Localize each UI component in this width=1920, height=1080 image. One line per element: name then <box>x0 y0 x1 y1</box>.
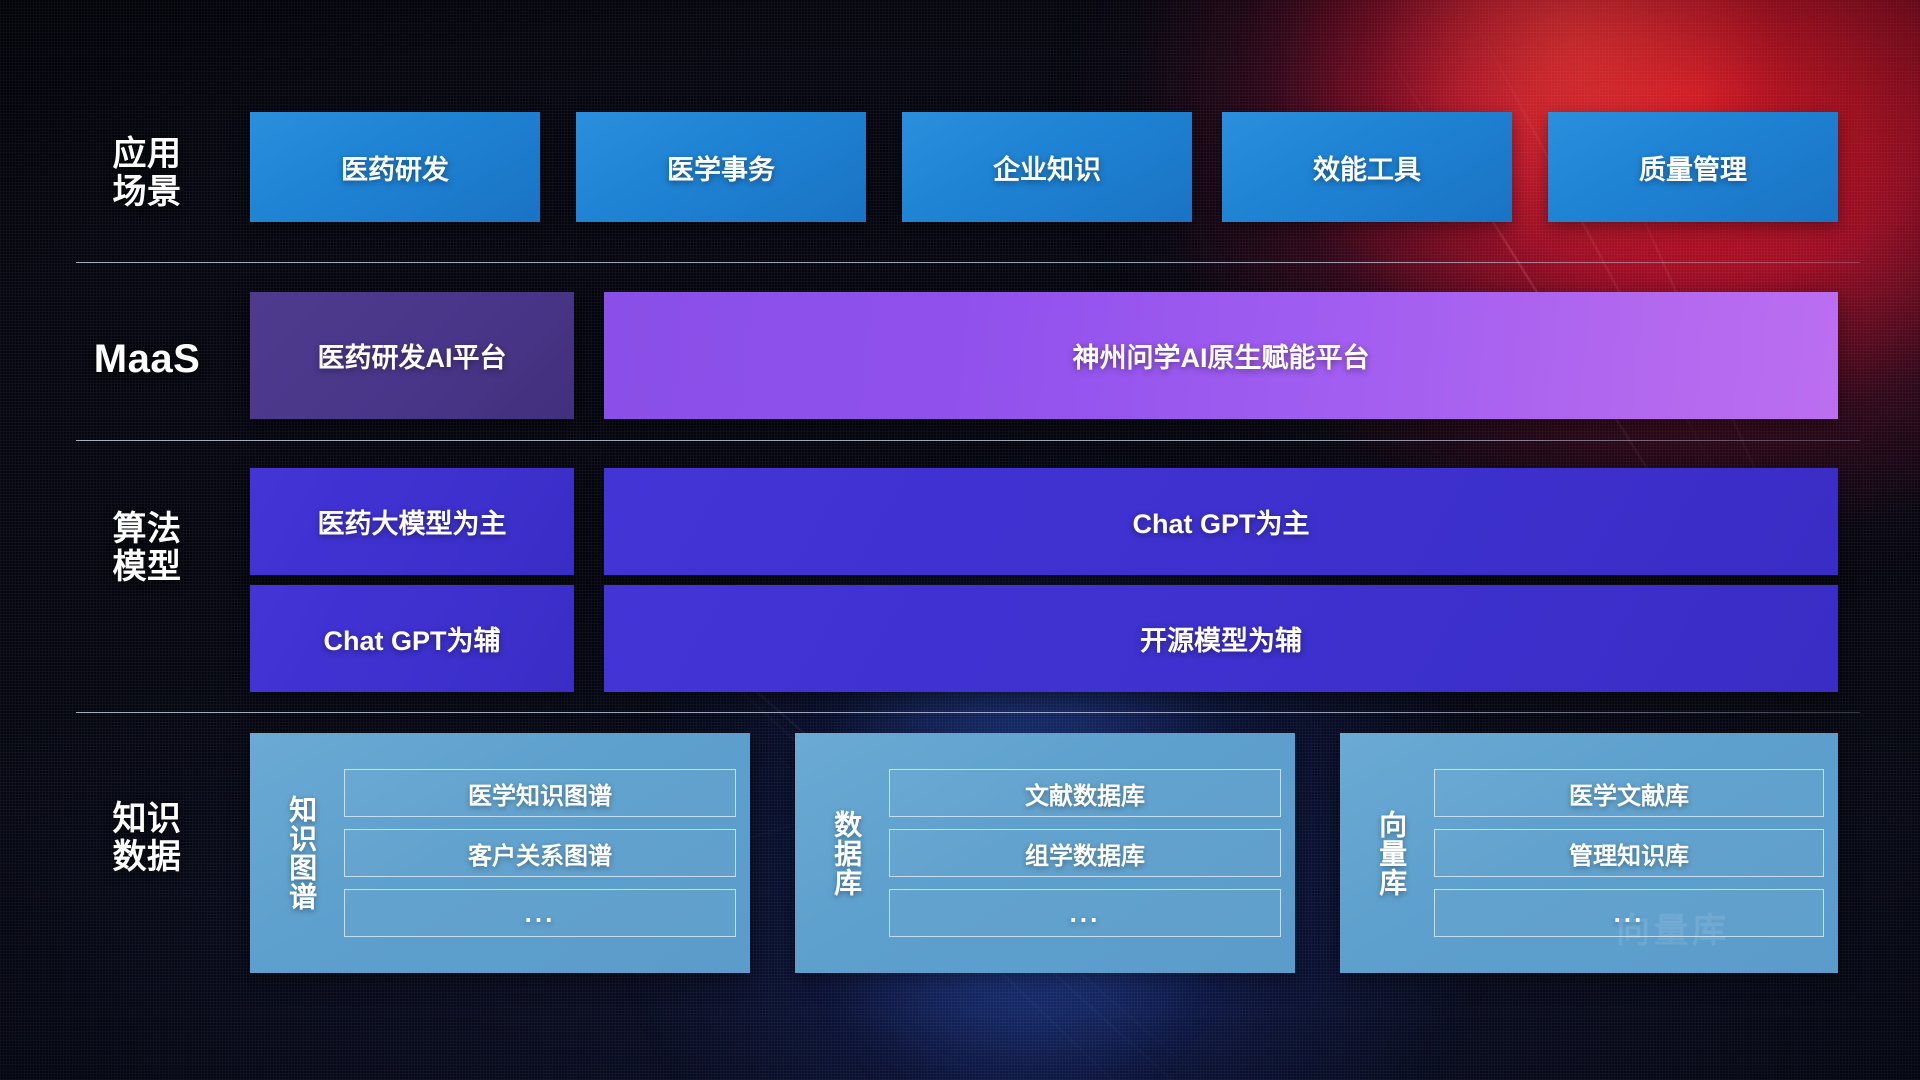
card-label: 开源模型为辅 <box>1140 619 1302 658</box>
app-scenario-card-medical-affairs[interactable]: 医学事务 <box>576 112 866 222</box>
maas-card-pharma-ai-platform[interactable]: 医药研发AI平台 <box>250 292 574 419</box>
row-label-line: 应用 <box>62 135 232 173</box>
app-scenario-card-quality-management[interactable]: 质量管理 <box>1548 112 1838 222</box>
knowledge-item-more[interactable]: ... <box>344 889 736 937</box>
card-label: 医药研发 <box>341 148 449 187</box>
knowledge-item-more[interactable]: ... <box>1434 889 1824 937</box>
knowledge-item[interactable]: 组学数据库 <box>889 829 1281 877</box>
row-label-line: 算法 <box>62 510 232 548</box>
algo-card-chatgpt-primary[interactable]: Chat GPT为主 <box>604 468 1838 575</box>
knowledge-block-title: 数据库 <box>809 810 883 897</box>
knowledge-item[interactable]: 客户关系图谱 <box>344 829 736 877</box>
card-label: 效能工具 <box>1313 148 1421 187</box>
knowledge-block-database[interactable]: 数据库 文献数据库 组学数据库 ... <box>795 733 1295 973</box>
card-label: 企业知识 <box>993 148 1101 187</box>
knowledge-item-list: 文献数据库 组学数据库 ... <box>889 769 1281 937</box>
knowledge-block-title: 向量库 <box>1354 810 1428 897</box>
card-label: 质量管理 <box>1639 148 1747 187</box>
row-label-line: 知识 <box>62 800 232 838</box>
row-label-line: 数据 <box>62 838 232 876</box>
architecture-diagram: 应用 场景 医药研发 医学事务 企业知识 效能工具 质量管理 MaaS 医药研发… <box>0 0 1920 1080</box>
knowledge-item[interactable]: 医学文献库 <box>1434 769 1824 817</box>
knowledge-block-vector-store[interactable]: 向量库 医学文献库 管理知识库 ... <box>1340 733 1838 973</box>
divider-after-maas <box>76 440 1860 441</box>
row-label-line: 场景 <box>62 173 232 211</box>
algo-card-opensource-secondary[interactable]: 开源模型为辅 <box>604 585 1838 692</box>
knowledge-item[interactable]: 文献数据库 <box>889 769 1281 817</box>
card-label: 医药研发AI平台 <box>318 336 507 375</box>
app-scenario-card-enterprise-knowledge[interactable]: 企业知识 <box>902 112 1192 222</box>
row-label-maas: MaaS <box>62 337 232 382</box>
knowledge-item[interactable]: 医学知识图谱 <box>344 769 736 817</box>
knowledge-block-knowledge-graph[interactable]: 知识图谱 医学知识图谱 客户关系图谱 ... <box>250 733 750 973</box>
divider-after-algorithm-models <box>76 712 1860 713</box>
row-label-application-scenarios: 应用 场景 <box>62 135 232 211</box>
knowledge-item-list: 医学文献库 管理知识库 ... <box>1434 769 1824 937</box>
card-label: Chat GPT为辅 <box>323 619 500 658</box>
algo-card-pharma-llm-primary[interactable]: 医药大模型为主 <box>250 468 574 575</box>
card-label: 神州问学AI原生赋能平台 <box>1073 336 1370 375</box>
knowledge-block-title: 知识图谱 <box>264 795 338 911</box>
app-scenario-card-pharma-rd[interactable]: 医药研发 <box>250 112 540 222</box>
row-label-algorithm-models: 算法 模型 <box>62 510 232 586</box>
row-label-line: MaaS <box>62 337 232 382</box>
algo-card-chatgpt-secondary[interactable]: Chat GPT为辅 <box>250 585 574 692</box>
row-label-line: 模型 <box>62 548 232 586</box>
knowledge-item[interactable]: 管理知识库 <box>1434 829 1824 877</box>
knowledge-item-more[interactable]: ... <box>889 889 1281 937</box>
knowledge-item-list: 医学知识图谱 客户关系图谱 ... <box>344 769 736 937</box>
card-label: 医学事务 <box>667 148 775 187</box>
maas-card-shenzhou-wenxue-platform[interactable]: 神州问学AI原生赋能平台 <box>604 292 1838 419</box>
card-label: 医药大模型为主 <box>318 502 507 541</box>
divider-after-application-scenarios <box>76 262 1860 263</box>
card-label: Chat GPT为主 <box>1132 502 1309 541</box>
app-scenario-card-efficiency-tools[interactable]: 效能工具 <box>1222 112 1512 222</box>
row-label-knowledge-data: 知识 数据 <box>62 800 232 876</box>
